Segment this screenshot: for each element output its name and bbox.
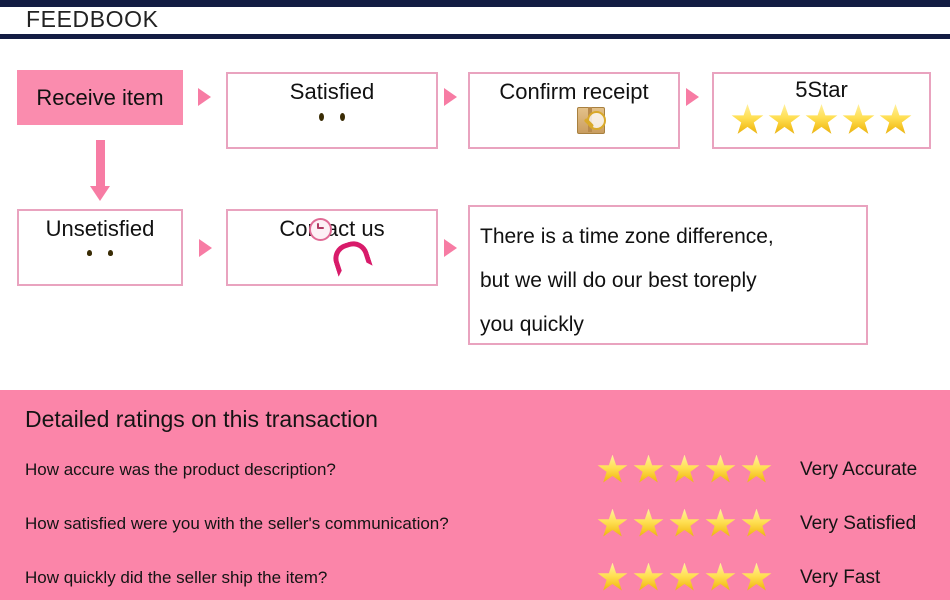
rating-stars[interactable] <box>597 509 772 540</box>
star-icon[interactable] <box>633 563 664 594</box>
rating-row: How quickly did the seller ship the item… <box>0 558 950 598</box>
detailed-ratings-panel: Detailed ratings on this transaction How… <box>0 390 950 600</box>
star-icon[interactable] <box>669 509 700 540</box>
flow-node-label: Receive item <box>36 84 163 112</box>
rating-question: How quickly did the seller ship the item… <box>25 567 327 589</box>
star-icon[interactable] <box>705 509 736 540</box>
five-stars-icon <box>731 104 912 137</box>
arrow-right-icon <box>199 239 212 257</box>
feedback-flow-diagram: Receive item Satisfied Confirm receipt 5… <box>0 40 950 390</box>
star-icon <box>731 104 764 137</box>
rating-row: How satisfied were you with the seller's… <box>0 504 950 544</box>
star-icon[interactable] <box>633 455 664 486</box>
star-icon <box>842 104 875 137</box>
star-icon[interactable] <box>705 455 736 486</box>
star-icon <box>879 104 912 137</box>
rating-value: Very Accurate <box>800 458 917 482</box>
arrow-right-icon <box>444 239 457 257</box>
flow-node-five-star[interactable]: 5Star <box>712 72 931 149</box>
flow-node-contact-us[interactable]: Contact us <box>226 209 438 286</box>
message-line-2: but we will do our best toreply <box>480 259 860 303</box>
star-icon[interactable] <box>597 509 628 540</box>
arrow-right-icon <box>198 88 211 106</box>
rating-value: Very Satisfied <box>800 512 916 536</box>
star-icon[interactable] <box>741 455 772 486</box>
star-icon <box>768 104 801 137</box>
arrow-right-icon <box>686 88 699 106</box>
rating-question: How satisfied were you with the seller's… <box>25 513 449 535</box>
flow-node-label: Confirm receipt <box>499 78 648 106</box>
page-header: FEEDBOOK <box>0 0 950 40</box>
rating-stars[interactable] <box>597 563 772 594</box>
arrow-down-icon <box>90 140 111 203</box>
flow-node-label: 5Star <box>795 76 848 104</box>
flow-node-label: Unsetisfied <box>46 215 155 243</box>
message-line-1: There is a time zone difference, <box>480 215 860 259</box>
star-icon[interactable] <box>669 563 700 594</box>
time-zone-message-box: There is a time zone difference, but we … <box>468 205 868 345</box>
star-icon <box>805 104 838 137</box>
star-icon[interactable] <box>741 509 772 540</box>
star-icon[interactable] <box>633 509 664 540</box>
flow-node-satisfied[interactable]: Satisfied <box>226 72 438 149</box>
star-icon[interactable] <box>741 563 772 594</box>
flow-node-label: Satisfied <box>290 78 374 106</box>
rating-value: Very Fast <box>800 566 880 590</box>
rating-question: How accure was the product description? <box>25 459 336 481</box>
flow-node-unsetisfied[interactable]: Unsetisfied <box>17 209 183 286</box>
message-line-3: you quickly <box>480 303 860 347</box>
rating-row: How accure was the product description? … <box>0 450 950 490</box>
star-icon[interactable] <box>705 563 736 594</box>
arrow-right-icon <box>444 88 457 106</box>
header-divider <box>0 34 950 39</box>
rating-stars[interactable] <box>597 455 772 486</box>
star-icon[interactable] <box>669 455 700 486</box>
star-icon[interactable] <box>597 455 628 486</box>
page-title: FEEDBOOK <box>26 5 159 33</box>
flow-node-confirm-receipt[interactable]: Confirm receipt <box>468 72 680 149</box>
star-icon[interactable] <box>597 563 628 594</box>
ratings-title: Detailed ratings on this transaction <box>25 404 378 434</box>
flow-node-receive-item[interactable]: Receive item <box>17 70 183 125</box>
